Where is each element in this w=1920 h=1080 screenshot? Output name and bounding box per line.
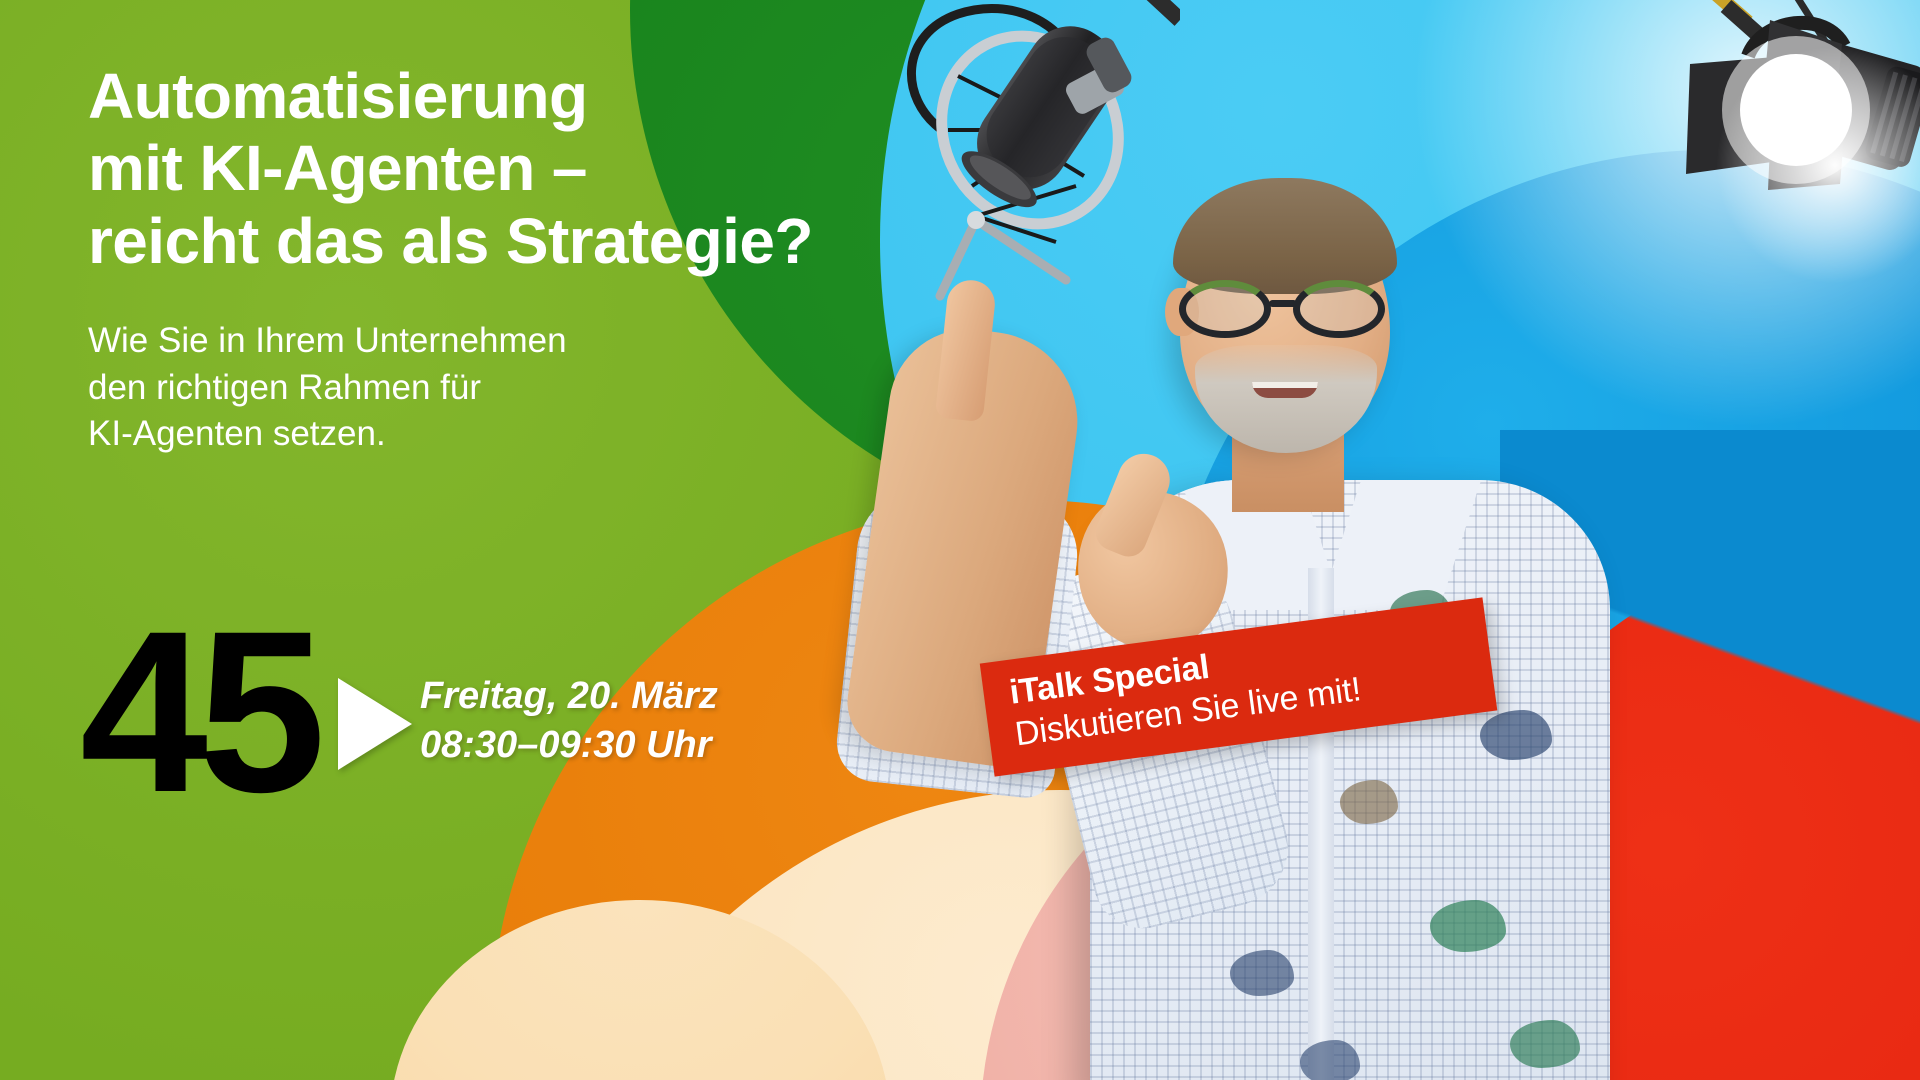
page-title: Automatisierung mit KI-Agenten – reicht … (88, 60, 928, 277)
promo-banner: Automatisierung mit KI-Agenten – reicht … (0, 0, 1920, 1080)
event-date: Freitag, 20. März (420, 672, 718, 721)
subtitle: Wie Sie in Ihrem Unternehmen den richtig… (88, 318, 748, 458)
headline-line-3: reicht das als Strategie? (88, 205, 928, 277)
headline-line-1: Automatisierung (88, 60, 928, 132)
subheadline-line-3: KI-Agenten setzen. (88, 411, 748, 458)
host-beard (1195, 345, 1377, 453)
event-time: 08:30–09:30 Uhr (420, 721, 718, 770)
episode-number: 45 (80, 608, 316, 815)
headline-line-2: mit KI-Agenten – (88, 132, 928, 204)
subheadline-line-1: Wie Sie in Ihrem Unternehmen (88, 318, 748, 365)
subheadline-line-2: den richtigen Rahmen für (88, 365, 748, 412)
event-datetime: Freitag, 20. März 08:30–09:30 Uhr (420, 672, 718, 769)
eyeglasses-icon (1173, 280, 1403, 340)
play-triangle-icon[interactable] (338, 678, 412, 770)
host-hair (1173, 178, 1397, 294)
